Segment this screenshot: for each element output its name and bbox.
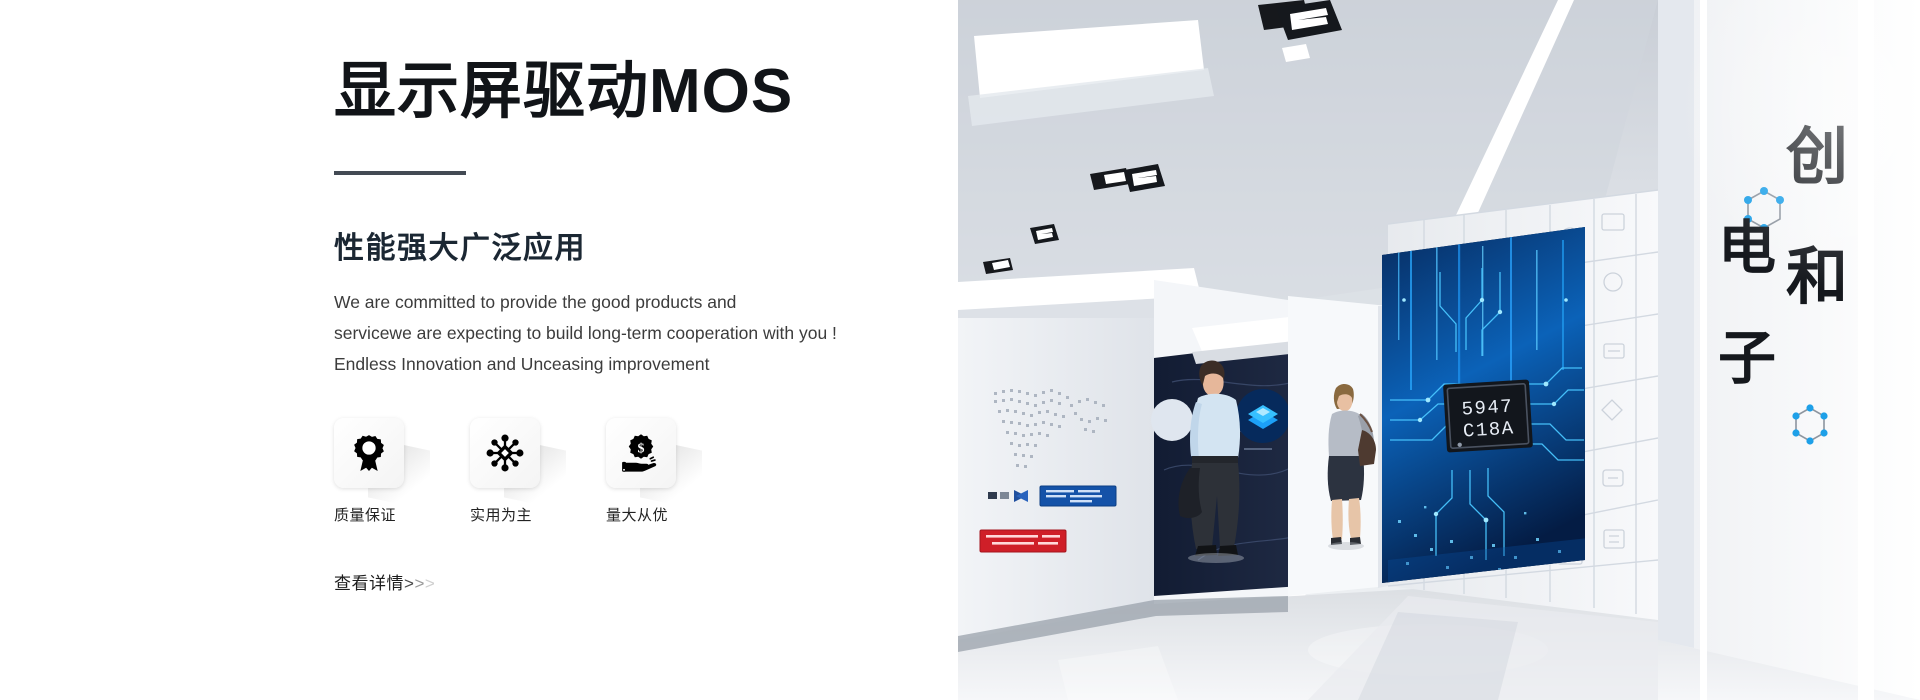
left-text-panel: 显示屏驱动MOS 性能强大广泛应用 We are committed to pr… [0, 0, 960, 700]
description-line-1: We are committed to provide the good pro… [334, 287, 914, 318]
chevron-right-icon-1: > [404, 574, 414, 593]
chevron-right-icon-3: > [425, 574, 435, 593]
banner-content: 显示屏驱动MOS 性能强大广泛应用 We are committed to pr… [334, 56, 914, 594]
feature-label: 实用为主 [470, 504, 548, 525]
feature-list: 质量保证 [334, 418, 914, 525]
chevron-right-icon-2: > [414, 574, 424, 593]
feature-item-bulk-discount[interactable]: $ 量大从优 [606, 418, 684, 525]
showroom-photo: 5947 C18A [958, 0, 1920, 700]
chip-label-line2: C18A [1462, 417, 1515, 442]
description-line-3: Endless Innovation and Unceasing improve… [334, 349, 914, 380]
award-medal-icon [334, 418, 404, 488]
banner-description: We are committed to provide the good pro… [334, 287, 914, 380]
feature-label: 量大从优 [606, 504, 684, 525]
feature-item-quality[interactable]: 质量保证 [334, 418, 412, 525]
network-hub-icon [470, 418, 540, 488]
view-details-link[interactable]: 查看详情>>> [334, 569, 435, 594]
svg-text:$: $ [638, 442, 645, 457]
hand-money-icon: $ [606, 418, 676, 488]
page-title: 显示屏驱动MOS [334, 56, 914, 127]
feature-icon-wrap [470, 418, 540, 488]
feature-item-practical[interactable]: 实用为主 [470, 418, 548, 525]
hero-banner: 显示屏驱动MOS 性能强大广泛应用 We are committed to pr… [0, 0, 1920, 700]
feature-icon-wrap [334, 418, 404, 488]
feature-icon-wrap: $ [606, 418, 676, 488]
description-line-2: servicewe are expecting to build long-te… [334, 318, 914, 349]
svg-text:子: 子 [1718, 324, 1776, 392]
feature-label: 质量保证 [334, 504, 412, 525]
title-divider-rule [334, 171, 466, 175]
chip-label-line1: 5947 [1461, 395, 1514, 420]
banner-subtitle: 性能强大广泛应用 [334, 223, 914, 267]
cta-label: 查看详情 [334, 574, 404, 593]
